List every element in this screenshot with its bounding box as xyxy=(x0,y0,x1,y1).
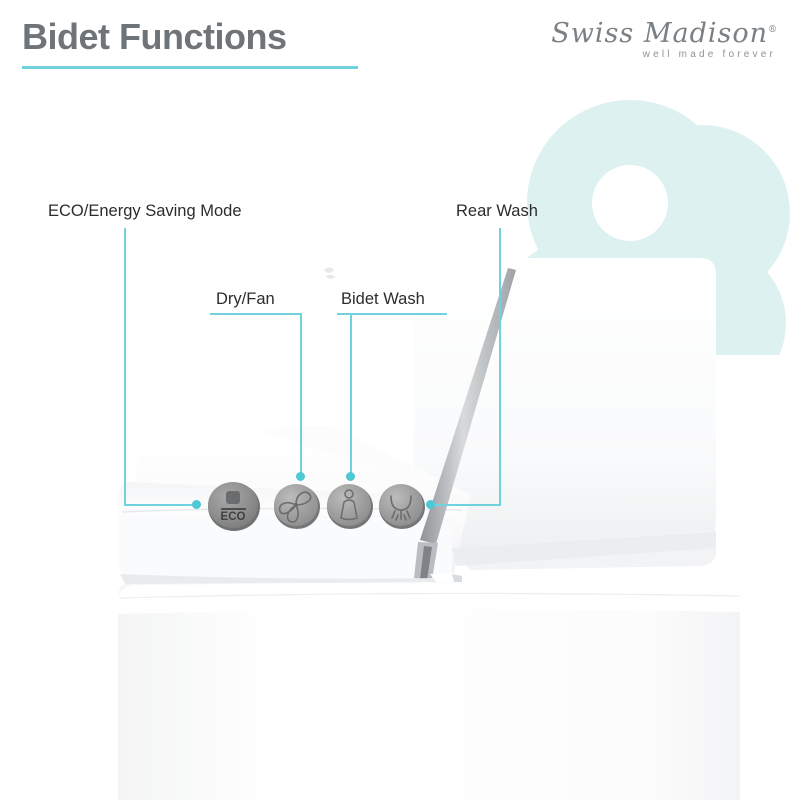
leader-dot-bidet-wash xyxy=(346,472,355,481)
leader-line-bidet-wash-vertical xyxy=(350,313,352,476)
callout-rule-bidet-wash xyxy=(337,313,447,315)
leader-line-eco-vertical xyxy=(124,228,126,506)
callout-label-rear-wash: Rear Wash xyxy=(456,203,538,220)
title-underline-rule xyxy=(22,66,358,69)
logo-tagline: well made forever xyxy=(551,49,776,60)
leader-dot-eco xyxy=(192,500,201,509)
page-title: Bidet Functions xyxy=(22,16,287,58)
brand-logo: Swiss Madison® well made forever xyxy=(551,20,778,60)
infographic-page: Bidet Functions Swiss Madison® well made… xyxy=(0,0,800,800)
leader-dot-rear-wash xyxy=(426,500,435,509)
callout-label-bidet-wash: Bidet Wash xyxy=(341,291,425,308)
leader-line-rear-wash-vertical xyxy=(499,228,501,506)
registered-trademark-icon: ® xyxy=(768,25,778,35)
leader-line-eco-horizontal xyxy=(124,504,196,506)
callout-label-eco: ECO/Energy Saving Mode xyxy=(48,203,242,220)
callout-rule-dry-fan xyxy=(210,313,302,315)
leader-dot-dry-fan xyxy=(296,472,305,481)
svg-text:ECO: ECO xyxy=(221,511,246,523)
leader-line-dry-fan-vertical xyxy=(300,313,302,476)
logo-wordmark: Swiss Madison® xyxy=(551,20,778,47)
logo-wordmark-text: Swiss Madison xyxy=(551,18,768,49)
callout-label-dry-fan: Dry/Fan xyxy=(216,291,275,308)
leader-line-rear-wash-horizontal xyxy=(430,504,501,506)
lid-emblem xyxy=(324,268,335,279)
bidet-toilet-illustration: ECO xyxy=(0,230,800,800)
